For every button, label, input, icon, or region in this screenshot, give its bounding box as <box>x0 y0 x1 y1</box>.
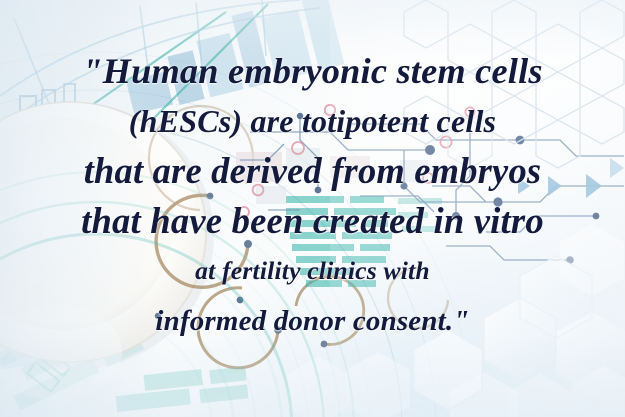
quote-line-3: that are derived from embryos <box>0 146 625 196</box>
quote-line-6: informed donor consent." <box>0 296 625 346</box>
quote-line-1: "Human embryonic stem cells <box>0 46 625 96</box>
quote-line-5: at fertility clinics with <box>0 246 625 296</box>
quote-graphic: "Human embryonic stem cells (hESCs) are … <box>0 0 625 417</box>
bottom-teal-blocks <box>114 364 249 412</box>
quote-text-block: "Human embryonic stem cells (hESCs) are … <box>0 46 625 346</box>
quote-line-2: (hESCs) are totipotent cells <box>0 96 625 146</box>
quote-line-4: that have been created in vitro <box>0 196 625 246</box>
